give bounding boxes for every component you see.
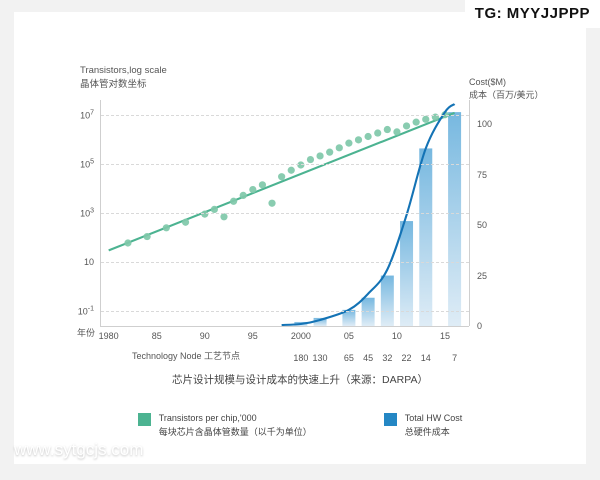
x-axis-tick: 85 xyxy=(152,331,162,341)
scatter-dot xyxy=(384,126,391,133)
legend-label-zh: 每块芯片含晶体管数量（以千为单位） xyxy=(159,426,312,440)
x-axis-node-label: Technology Node 工艺节点 xyxy=(132,349,240,362)
gridline-left xyxy=(101,311,469,312)
y-axis-right-tick: 0 xyxy=(477,321,482,331)
scatter-dot xyxy=(220,213,227,220)
y-axis-left-tick: 10-1 xyxy=(78,306,94,317)
site-watermark: www.sytgcjs.com xyxy=(14,440,143,460)
scatter-dot xyxy=(413,119,420,126)
legend-item: Transistors per chip,'000每块芯片含晶体管数量（以千为单… xyxy=(138,412,312,439)
node-axis-tick: 14 xyxy=(421,353,431,363)
cost-bar xyxy=(400,221,413,326)
y-axis-left-tick: 105 xyxy=(80,158,94,169)
scatter-dot xyxy=(374,129,381,136)
x-axis-tick: 1980 xyxy=(99,331,119,341)
scatter-dot xyxy=(316,152,323,159)
gridline-left xyxy=(101,262,469,263)
x-axis-tick: 95 xyxy=(248,331,258,341)
y-axis-right-tick: 75 xyxy=(477,170,487,180)
scatter-dot xyxy=(345,140,352,147)
cost-bar xyxy=(381,276,394,326)
scatter-dot xyxy=(288,167,295,174)
x-axis-tick: 15 xyxy=(440,331,450,341)
scatter-dot xyxy=(297,161,304,168)
x-axis-year-label: 年份 xyxy=(77,326,95,339)
legend-swatch xyxy=(138,413,151,426)
plot-area: 10-110103105107 0255075100 1980859095200… xyxy=(100,100,469,327)
node-axis-tick: 180 xyxy=(293,353,308,363)
scatter-dot xyxy=(211,206,218,213)
gridline-left xyxy=(101,213,469,214)
y-axis-left-tick: 10 xyxy=(84,257,94,267)
scatter-dot xyxy=(240,192,247,199)
node-axis-tick: 32 xyxy=(382,353,392,363)
right-axis-line xyxy=(469,100,470,326)
scatter-dot xyxy=(124,239,131,246)
chart-caption: 芯片设计规模与设计成本的快速上升（来源：DARPA） xyxy=(14,372,586,387)
y-axis-right-tick: 100 xyxy=(477,119,492,129)
x-axis-tick: 2000 xyxy=(291,331,311,341)
legend-label-en: Total HW Cost xyxy=(405,412,463,426)
scatter-dot xyxy=(163,224,170,231)
scatter-dot xyxy=(336,144,343,151)
scatter-dot xyxy=(259,181,266,188)
scatter-dot xyxy=(278,173,285,180)
y-axis-right-tick: 50 xyxy=(477,220,487,230)
scatter-dot xyxy=(365,133,372,140)
node-axis-tick: 7 xyxy=(452,353,457,363)
scatter-dot xyxy=(201,211,208,218)
left-axis-title: Transistors,log scale 晶体管对数坐标 xyxy=(80,64,167,92)
scatter-dot xyxy=(422,116,429,123)
scatter-dot xyxy=(403,122,410,129)
right-axis-title: Cost($M) 成本（百万/美元） xyxy=(469,76,544,102)
legend-label: Transistors per chip,'000每块芯片含晶体管数量（以千为单… xyxy=(159,412,312,439)
screenshot-stage: Transistors,log scale 晶体管对数坐标 Cost($M) 成… xyxy=(0,0,600,480)
scatter-dot xyxy=(144,233,151,240)
left-axis-title-en: Transistors,log scale xyxy=(80,64,167,78)
legend-label-en: Transistors per chip,'000 xyxy=(159,412,312,426)
node-axis-tick: 22 xyxy=(402,353,412,363)
legend-label: Total HW Cost总硬件成本 xyxy=(405,412,463,439)
x-axis-tick: 05 xyxy=(344,331,354,341)
node-axis-tick: 65 xyxy=(344,353,354,363)
right-axis-title-zh: 成本（百万/美元） xyxy=(469,89,544,102)
scatter-dot xyxy=(230,198,237,205)
y-axis-left-tick: 103 xyxy=(80,208,94,219)
chart-card: Transistors,log scale 晶体管对数坐标 Cost($M) 成… xyxy=(14,12,586,464)
node-axis-tick: 45 xyxy=(363,353,373,363)
y-axis-right-tick: 25 xyxy=(477,271,487,281)
scatter-dot xyxy=(326,149,333,156)
node-axis-tick: 130 xyxy=(313,353,328,363)
gridline-left xyxy=(101,115,469,116)
scatter-dot xyxy=(393,128,400,135)
scatter-dot xyxy=(268,200,275,207)
scatter-dot xyxy=(355,136,362,143)
y-axis-left-tick: 107 xyxy=(80,109,94,120)
chart-legend: Transistors per chip,'000每块芯片含晶体管数量（以千为单… xyxy=(14,412,586,439)
legend-item: Total HW Cost总硬件成本 xyxy=(384,412,463,439)
legend-label-zh: 总硬件成本 xyxy=(405,426,463,440)
x-axis-tick: 10 xyxy=(392,331,402,341)
scatter-dot xyxy=(307,156,314,163)
cost-bar xyxy=(419,148,432,326)
legend-swatch xyxy=(384,413,397,426)
scatter-dot xyxy=(249,186,256,193)
scatter-dot xyxy=(182,219,189,226)
cost-bar xyxy=(448,112,461,326)
gridline-left xyxy=(101,164,469,165)
left-axis-title-zh: 晶体管对数坐标 xyxy=(80,78,167,92)
x-axis-tick: 90 xyxy=(200,331,210,341)
tg-watermark-badge: TG: MYYJJPPP xyxy=(465,0,600,28)
right-axis-title-en: Cost($M) xyxy=(469,76,544,89)
